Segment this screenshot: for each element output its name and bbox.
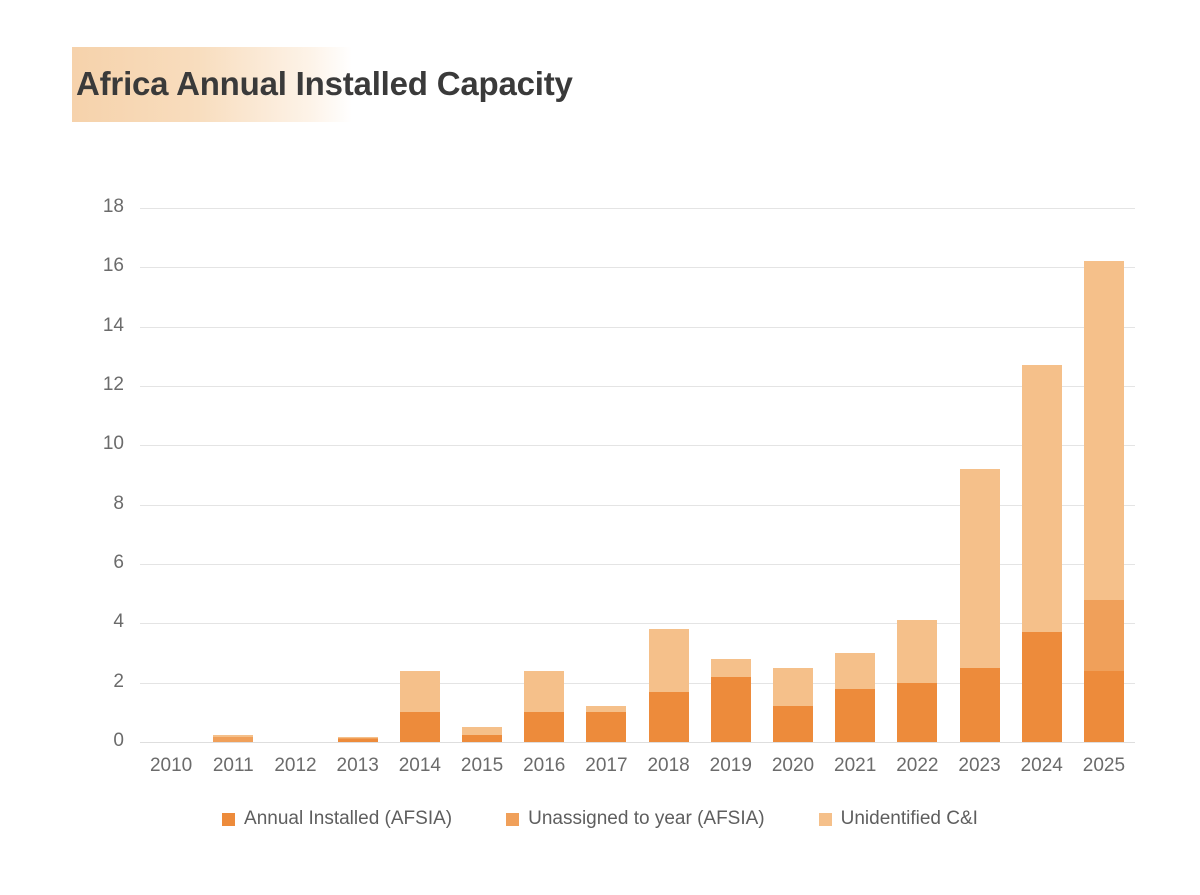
bar-2021[interactable] (835, 208, 875, 742)
bar-segment-2019-series-3[interactable] (711, 659, 751, 677)
bar-segment-2025-series-1[interactable] (1084, 671, 1124, 742)
legend-item-3[interactable]: Unidentified C&I (819, 808, 978, 830)
x-axis-tick-label-2025: 2025 (1069, 755, 1139, 777)
gridline (140, 742, 1135, 743)
x-axis-tick-label-2019: 2019 (696, 755, 766, 777)
chart-legend: Annual Installed (AFSIA)Unassigned to ye… (0, 808, 1200, 830)
bar-segment-2024-series-3[interactable] (1022, 365, 1062, 632)
bar-2019[interactable] (711, 208, 751, 742)
bar-2012[interactable] (275, 208, 315, 742)
bar-segment-2011-series-2[interactable] (213, 737, 253, 742)
legend-label: Unidentified C&I (841, 808, 978, 830)
bar-segment-2021-series-1[interactable] (835, 689, 875, 742)
y-axis-tick-label: 0 (78, 731, 124, 751)
x-axis-tick-label-2017: 2017 (571, 755, 641, 777)
y-axis-tick-label: 14 (78, 316, 124, 336)
bar-segment-2011-series-3[interactable] (213, 735, 253, 737)
legend-swatch-icon (506, 813, 519, 826)
bar-segment-2023-series-1[interactable] (960, 668, 1000, 742)
x-axis-tick-label-2013: 2013 (323, 755, 393, 777)
bar-2013[interactable] (338, 208, 378, 742)
bar-2020[interactable] (773, 208, 813, 742)
y-axis-tick-label: 2 (78, 672, 124, 692)
legend-label: Annual Installed (AFSIA) (244, 808, 452, 830)
x-axis-tick-label-2012: 2012 (260, 755, 330, 777)
y-axis-tick-label: 4 (78, 612, 124, 632)
bar-2016[interactable] (524, 208, 564, 742)
legend-item-1[interactable]: Annual Installed (AFSIA) (222, 808, 452, 830)
chart-container: Africa Annual Installed Capacity 0246810… (0, 0, 1200, 895)
bar-segment-2016-series-1[interactable] (524, 712, 564, 742)
y-axis-tick-label: 16 (78, 256, 124, 276)
bar-segment-2021-series-3[interactable] (835, 653, 875, 689)
bar-2017[interactable] (586, 208, 626, 742)
bar-segment-2025-series-2[interactable] (1084, 600, 1124, 671)
bar-segment-2013-series-3[interactable] (338, 737, 378, 738)
bar-segment-2017-series-1[interactable] (586, 712, 626, 742)
y-axis-tick-label: 10 (78, 434, 124, 454)
legend-label: Unassigned to year (AFSIA) (528, 808, 765, 830)
bar-segment-2013-series-1[interactable] (338, 739, 378, 742)
x-axis-tick-label-2016: 2016 (509, 755, 579, 777)
x-axis-tick-label-2021: 2021 (820, 755, 890, 777)
x-axis-tick-label-2022: 2022 (882, 755, 952, 777)
legend-swatch-icon (222, 813, 235, 826)
bar-segment-2016-series-3[interactable] (524, 671, 564, 713)
x-axis-tick-label-2015: 2015 (447, 755, 517, 777)
bar-2024[interactable] (1022, 208, 1062, 742)
x-axis-tick-label-2011: 2011 (198, 755, 268, 777)
bar-segment-2014-series-3[interactable] (400, 671, 440, 713)
bar-segment-2014-series-1[interactable] (400, 712, 440, 742)
bar-segment-2020-series-1[interactable] (773, 706, 813, 742)
bar-segment-2022-series-3[interactable] (897, 620, 937, 682)
bar-segment-2019-series-1[interactable] (711, 677, 751, 742)
bar-segment-2024-series-1[interactable] (1022, 632, 1062, 742)
x-axis-tick-label-2014: 2014 (385, 755, 455, 777)
bar-2010[interactable] (151, 208, 191, 742)
bar-2022[interactable] (897, 208, 937, 742)
bar-2023[interactable] (960, 208, 1000, 742)
bar-segment-2017-series-3[interactable] (586, 706, 626, 712)
legend-swatch-icon (819, 813, 832, 826)
y-axis-tick-label: 6 (78, 553, 124, 573)
y-axis-tick-label: 12 (78, 375, 124, 395)
bar-2015[interactable] (462, 208, 502, 742)
x-axis-tick-label-2023: 2023 (945, 755, 1015, 777)
bar-segment-2023-series-3[interactable] (960, 469, 1000, 668)
x-axis-tick-label-2024: 2024 (1007, 755, 1077, 777)
bar-2025[interactable] (1084, 208, 1124, 742)
bar-segment-2025-series-3[interactable] (1084, 261, 1124, 599)
legend-item-2[interactable]: Unassigned to year (AFSIA) (506, 808, 765, 830)
bar-2011[interactable] (213, 208, 253, 742)
bar-2018[interactable] (649, 208, 689, 742)
bar-2014[interactable] (400, 208, 440, 742)
y-axis-tick-label: 8 (78, 494, 124, 514)
x-axis-tick-label-2020: 2020 (758, 755, 828, 777)
y-axis-tick-label: 18 (78, 197, 124, 217)
bar-segment-2020-series-3[interactable] (773, 668, 813, 707)
bar-segment-2018-series-1[interactable] (649, 692, 689, 742)
x-axis-tick-label-2018: 2018 (634, 755, 704, 777)
bar-segment-2022-series-1[interactable] (897, 683, 937, 742)
bar-segment-2018-series-3[interactable] (649, 629, 689, 691)
bar-segment-2015-series-3[interactable] (462, 727, 502, 734)
bar-segment-2015-series-1[interactable] (462, 735, 502, 742)
plot-area (140, 208, 1135, 742)
x-axis-tick-label-2010: 2010 (136, 755, 206, 777)
bar-segment-2013-series-2[interactable] (338, 738, 378, 739)
